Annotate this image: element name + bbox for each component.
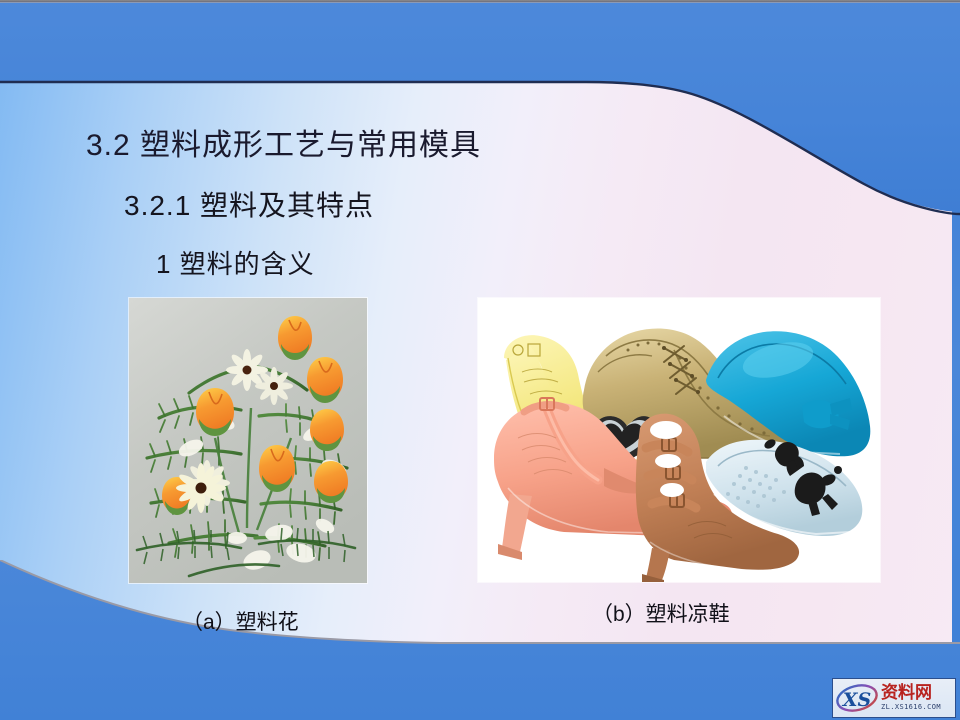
section-heading: 3.2 塑料成形工艺与常用模具 [86, 120, 481, 164]
figure-caption-a: （a）塑料花 [182, 606, 299, 636]
figure-plastic-shoes [478, 298, 880, 582]
plastic-shoes-image [478, 298, 880, 582]
xs-logo-icon: XS [833, 680, 881, 716]
subsection-heading: 3.2.1 塑料及其特点 [124, 184, 374, 224]
figure-plastic-flowers [129, 298, 367, 583]
item-heading: 1 塑料的含义 [156, 244, 315, 281]
right-edge-accent-strip [952, 0, 960, 720]
top-border-line [0, 0, 960, 3]
watermark-badge: XS 资料网 ZL.XS1616.COM [832, 678, 956, 718]
svg-text:XS: XS [842, 689, 871, 711]
plastic-flowers-image [129, 298, 367, 583]
watermark-site-name: 资料网 [881, 685, 941, 702]
figure-caption-b: （b）塑料凉鞋 [592, 598, 730, 628]
watermark-url: ZL.XS1616.COM [881, 704, 941, 711]
xs-logo-glyph: XS [833, 680, 881, 716]
presentation-slide: 3.2 塑料成形工艺与常用模具 3.2.1 塑料及其特点 1 塑料的含义 [0, 0, 960, 720]
